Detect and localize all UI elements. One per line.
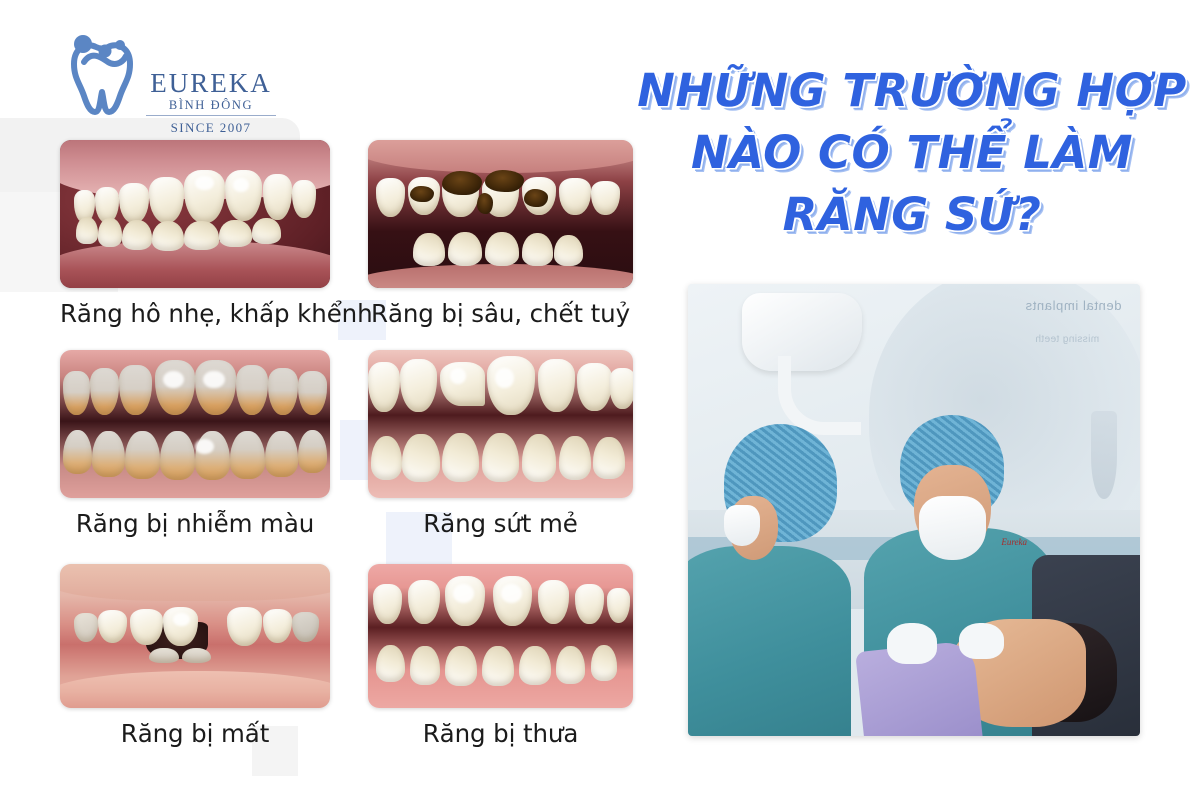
case-photo-stained-teeth	[60, 350, 330, 498]
case-grid: Răng hô nhẹ, khấp khểnh	[0, 0, 660, 800]
clinic-treatment-photo: dental implants missing teeth Eureka	[688, 284, 1140, 736]
case-caption-decayed-dead-pulp-teeth: Răng bị sâu, chết tuỷ	[368, 299, 633, 328]
case-item-protruding-crooked-teeth: Răng hô nhẹ, khấp khểnh	[60, 140, 330, 328]
poster-subtitle-text: missing teeth	[1035, 334, 1099, 345]
case-caption-chipped-teeth: Răng sứt mẻ	[368, 509, 633, 538]
case-caption-missing-teeth: Răng bị mất	[60, 719, 330, 748]
case-caption-protruding-crooked-teeth: Răng hô nhẹ, khấp khểnh	[60, 299, 330, 328]
poster-title-text: dental implants	[1025, 298, 1121, 313]
dentist-glove-left	[887, 623, 937, 664]
case-caption-stained-teeth: Răng bị nhiễm màu	[60, 509, 330, 538]
case-item-stained-teeth: Răng bị nhiễm màu	[60, 350, 330, 538]
case-photo-protruding-crooked-teeth	[60, 140, 330, 288]
case-photo-missing-teeth	[60, 564, 330, 708]
page-title-line-1: NHỮNG TRƯỜNG HỢP	[636, 60, 1188, 122]
case-caption-gapped-teeth: Răng bị thưa	[368, 719, 633, 748]
case-photo-chipped-teeth	[368, 350, 633, 498]
case-item-decayed-dead-pulp-teeth: Răng bị sâu, chết tuỷ	[368, 140, 633, 328]
uniform-badge: Eureka	[1001, 537, 1027, 547]
dentist-mask	[919, 496, 987, 559]
page-title-line-3: RĂNG SỨ?	[636, 184, 1188, 246]
assistant-body	[688, 546, 851, 736]
case-item-chipped-teeth: Răng sứt mẻ	[368, 350, 633, 538]
case-photo-decayed-dead-pulp-teeth	[368, 140, 633, 288]
case-item-gapped-teeth: Răng bị thưa	[368, 564, 633, 748]
page-title-line-2: NÀO CÓ THỂ LÀM	[636, 122, 1188, 184]
dentist-glove-right	[959, 623, 1004, 659]
case-item-missing-teeth: Răng bị mất	[60, 564, 330, 748]
case-photo-gapped-teeth	[368, 564, 633, 708]
page-title: NHỮNG TRƯỜNG HỢP NÀO CÓ THỂ LÀM RĂNG SỨ?	[636, 60, 1188, 246]
assistant-mask	[724, 505, 760, 546]
